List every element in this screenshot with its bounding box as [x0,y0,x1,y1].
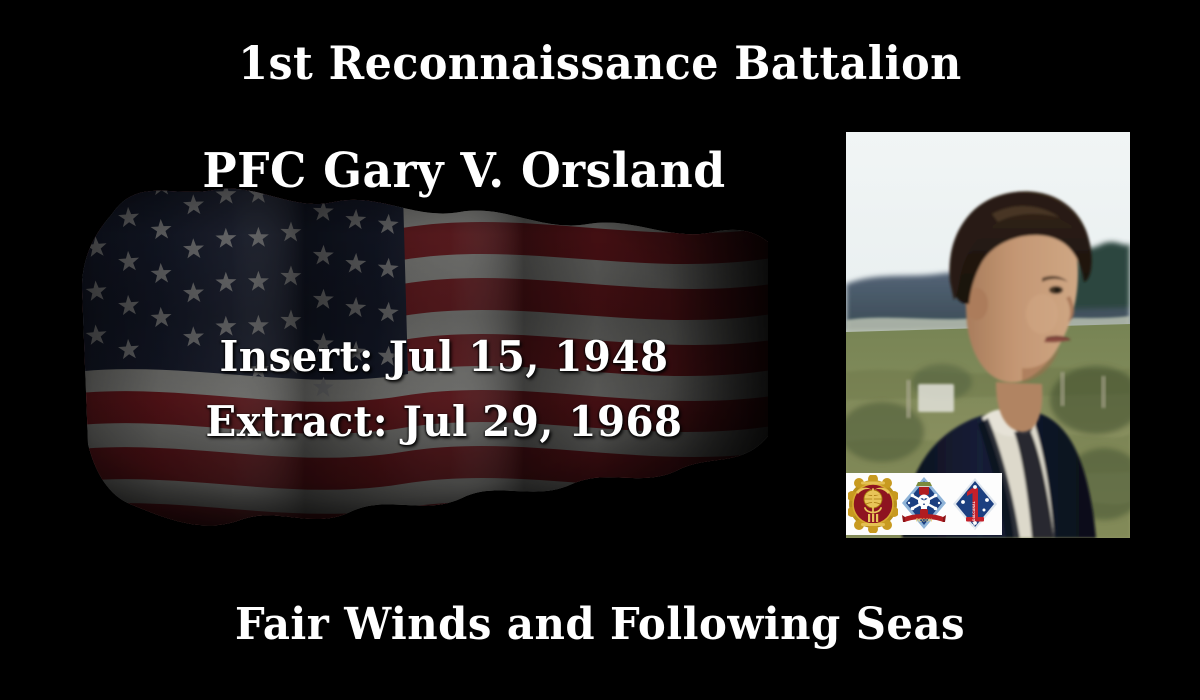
memorial-card: 1st Reconnaissance Battalion PFC Gary V.… [0,0,1200,700]
member-name: PFC Gary V. Orsland [37,143,892,199]
page-title: 1st Reconnaissance Battalion [42,37,1158,89]
flag-star [377,257,399,278]
flag-star [345,252,367,273]
flag-star [150,262,172,283]
flag-star [183,282,205,303]
flag-star [280,309,301,329]
flag-star [312,244,334,265]
1st-marine-division-patch: GUADALCANAL [950,475,1000,533]
flag-star [85,236,108,258]
usmc-eagle-globe-anchor-emblem [848,475,898,533]
flag-star [183,238,205,259]
flag-star [312,200,334,221]
flag-star [118,206,140,227]
flag-star [150,218,172,239]
extract-date: Extract: Jul 29, 1968 [31,398,857,446]
flag-star [118,294,140,315]
recon-scroll-label: RECON [916,517,933,522]
emblem-label [868,514,878,522]
insignia-strip: RECON GUADALCANAL [846,473,1002,535]
flag-star [280,265,301,285]
flag-star [85,280,108,302]
recon-skull-crossbones-insignia: RECON [900,475,948,533]
flag-star [345,296,367,317]
flag-star [312,288,334,309]
flag-star [150,306,172,327]
flag-star [215,228,236,248]
flag-star [377,301,399,322]
insert-date: Insert: Jul 15, 1948 [31,333,857,381]
flag-star [215,272,236,292]
farewell-text: Fair Winds and Following Seas [30,600,1170,650]
flag-star [52,304,75,326]
flag-star [345,208,367,229]
flag-star [52,260,75,282]
flag-star [52,216,75,238]
flag-star [248,227,269,247]
flag-star [377,213,399,234]
flag-star [118,250,140,271]
flag-star [280,221,301,241]
flag-star [248,271,269,291]
